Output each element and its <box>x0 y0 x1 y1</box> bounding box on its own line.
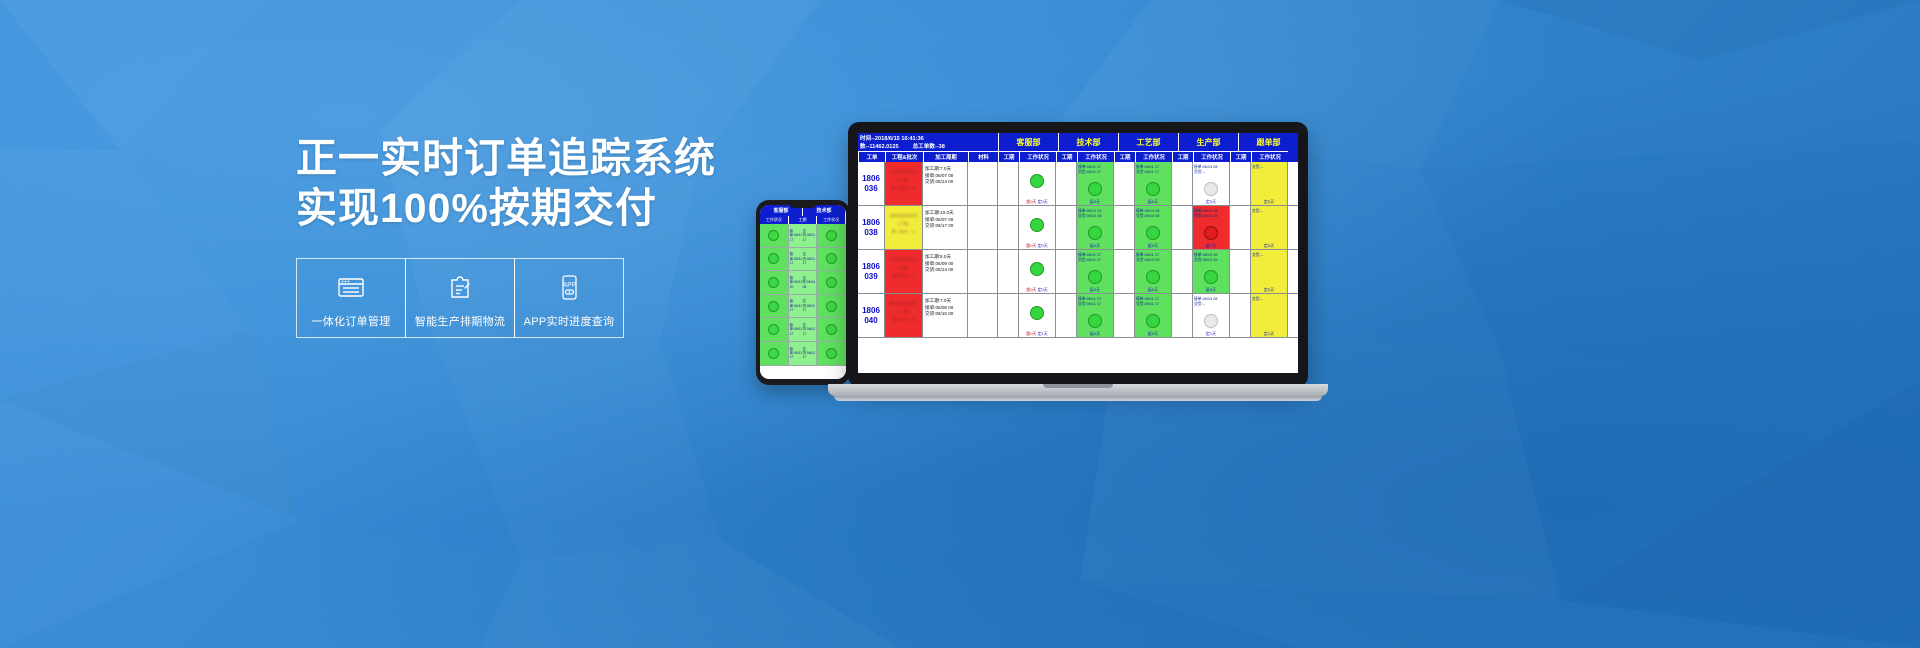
cycle-days: 加工期:5.0天 <box>925 254 965 261</box>
phone-note-deliver: 交货:06/11 17 <box>803 323 816 336</box>
mobile-app-icon: APP <box>552 272 586 306</box>
status-dot-green <box>1030 218 1044 232</box>
dashboard-meta: 时间--2018/6/15 16:41:36 数--11462.0125 总工单… <box>858 133 998 151</box>
cell-duration <box>1114 294 1135 337</box>
status-delay: 延0天 <box>1148 243 1158 248</box>
clipboard-icon <box>443 272 477 306</box>
phone-note-cell: 接单:06/11 17 交货:06/11 17 <box>789 342 817 366</box>
status-footer: 定0天 <box>1251 199 1287 205</box>
col-header-status-prod: 工作状况 <box>1193 151 1230 162</box>
dashboard-column-headers: 工单 工程&批次 加工周期 材料 工期 工作状况 工期 工作状况 工期 工作状况… <box>858 151 1298 162</box>
status-footer: 超0天 定1天 <box>1019 331 1055 337</box>
cell-status[interactable]: 交货:--定0天 <box>1251 162 1288 205</box>
phone-notch <box>789 203 817 208</box>
status-delay: 延0天 <box>1090 199 1100 204</box>
cell-duration <box>1172 162 1193 205</box>
status-notes: 交货:-- <box>1251 162 1287 173</box>
status-footer: 延0天 <box>1077 287 1113 293</box>
cell-project: 东莞某某某项目(三期)第四批次 - 07 <box>885 250 923 293</box>
dept-header-process: 工艺部 <box>1118 133 1178 151</box>
status-note-receive: 接单:06/12 09 <box>1194 253 1217 257</box>
cell-project: 广州某某某项目(一期)第二批次 - 05 <box>885 162 923 205</box>
status-delay: 定1天 <box>1206 331 1216 336</box>
status-footer: 超0天 定0天 <box>1019 243 1055 249</box>
phone-subcol-0: 工作状况 <box>760 216 789 224</box>
status-note-deliver: 交货:06/11 17 <box>1136 170 1159 174</box>
status-notes: 接单:06/11 17交货:06/11 17 <box>1077 250 1113 267</box>
status-footer: 延0天 <box>1135 287 1171 293</box>
cell-status[interactable]: 接单:06/11 17交货:06/11 17延0天 <box>1077 250 1114 293</box>
status-notes: 接单:06/14 08交货:06/14 08 <box>1135 206 1171 223</box>
col-header-duration-tech: 工期 <box>1056 151 1077 162</box>
cell-duration <box>1172 250 1193 293</box>
headline-line-2: 实现100%按期交付 <box>296 183 716 233</box>
phone-status-cell[interactable] <box>760 271 788 295</box>
deliver-date: 交货:06/17 00 <box>925 223 965 230</box>
cell-duration <box>998 250 1019 293</box>
col-header-status-merc: 工作状况 <box>1251 151 1288 162</box>
status-notes: 接单:06/11 17交货:06/11 17 <box>1135 162 1171 179</box>
cell-duration <box>1172 206 1193 249</box>
cell-status[interactable]: 接单:06/11 17交货:06/11 17延0天 <box>1077 294 1114 337</box>
status-fixed: 定0天 <box>1038 243 1048 248</box>
status-notes: 接单:06/12 20交货:06/14 08 <box>1077 206 1113 223</box>
laptop-screen: 时间--2018/6/15 16:41:36 数--11462.0125 总工单… <box>858 133 1298 373</box>
project-name: 广州某某某项目(一期)第二批次 - 05 <box>885 162 922 192</box>
total-orders-label: 总工单数--38 <box>913 142 945 150</box>
phone-note-receive: 接单:06/11 17 <box>790 323 803 336</box>
cell-material <box>968 162 998 205</box>
dashboard-header: 时间--2018/6/15 16:41:36 数--11462.0125 总工单… <box>858 133 1298 151</box>
status-note-receive: 交货:-- <box>1252 253 1263 257</box>
phone-note-receive: 接单:06/11 17 <box>790 252 803 265</box>
status-overdue: 超0天 <box>1026 199 1036 204</box>
status-footer: 超0天 定0天 <box>1019 287 1055 293</box>
count-label: 数--11462.0125 <box>860 142 899 150</box>
cell-project: 深圳某某某项目(二期)第一批次 - 11 <box>885 206 923 249</box>
status-dot-green <box>1146 314 1160 328</box>
phone-note-deliver: 交货:06/11 17 <box>803 299 816 312</box>
phone-note-cell: 接单:06/11 17 交货:06/11 17 <box>789 295 817 319</box>
status-dot-green <box>1088 314 1102 328</box>
order-number-bottom: 038 <box>864 228 877 238</box>
status-note-receive: 接单:06/14 08 <box>1194 209 1217 213</box>
cell-order-number: 1806038 <box>858 206 885 249</box>
status-note-receive: 接单:06/14 08 <box>1136 209 1159 213</box>
status-note-receive: 接单:06/11 17 <box>1136 297 1159 301</box>
phone-note-cell: 接单:06/11 17 交货:06/11 17 <box>789 248 817 272</box>
status-note-receive: 接单:06/11 17 <box>1136 253 1159 257</box>
laptop-lid: 时间--2018/6/15 16:41:36 数--11462.0125 总工单… <box>848 122 1308 387</box>
status-notes: 接单:06/11 17交货:06/11 17 <box>1077 294 1113 311</box>
status-note-deliver: 交货:06/12 09 <box>1136 258 1159 262</box>
laptop-mockup: 时间--2018/6/15 16:41:36 数--11462.0125 总工单… <box>828 122 1328 417</box>
laptop-foot <box>834 396 1322 401</box>
status-delay: 定0天 <box>1264 287 1274 292</box>
cell-order-number: 1806040 <box>858 294 885 337</box>
status-dot-green <box>1088 270 1102 284</box>
status-notes: 交货:-- <box>1251 250 1287 261</box>
status-notes: 接单:06/11 17交货:06/11 17 <box>1135 294 1171 311</box>
cell-status[interactable]: 接单:06/12 20交货:06/14 08延0天 <box>1077 206 1114 249</box>
cell-material <box>968 206 998 249</box>
cell-duration <box>998 206 1019 249</box>
phone-column-status-a <box>760 224 789 366</box>
status-dot-green <box>1204 270 1218 284</box>
col-header-cycle: 加工周期 <box>923 151 968 162</box>
status-note-deliver: 交货:06/14 16 <box>1194 214 1217 218</box>
status-dot-green <box>1030 174 1044 188</box>
col-header-status-proc: 工作状况 <box>1135 151 1172 162</box>
status-note-receive: 交货:-- <box>1252 209 1263 213</box>
status-delay: 定0天 <box>1264 199 1274 204</box>
status-delay: 延0天 <box>1206 287 1216 292</box>
status-notes: 交货:-- <box>1251 294 1287 305</box>
phone-note-receive: 接单:06/11 17 <box>790 347 803 360</box>
status-delay: 定0天 <box>1264 243 1274 248</box>
cell-status[interactable]: 接单:06/11 17交货:06/11 17延0天 <box>1077 162 1114 205</box>
status-dot-green <box>1146 226 1160 240</box>
status-delay: 超7天 <box>1206 243 1216 248</box>
status-dot-grey <box>1204 314 1218 328</box>
cell-status[interactable]: 接单:06/11 17交货:06/12 09延0天 <box>1135 250 1172 293</box>
cell-status[interactable]: 接单:06/14 08交货:06/14 08延0天 <box>1135 206 1172 249</box>
status-dot-green <box>1088 182 1102 196</box>
dept-header-production: 生产部 <box>1178 133 1238 151</box>
order-number-top: 1806 <box>862 306 880 316</box>
status-dot-green <box>768 348 779 359</box>
phone-status-cell[interactable] <box>760 342 788 366</box>
col-header-duration-merc: 工期 <box>1230 151 1251 162</box>
status-note-deliver: 交货:06/11 17 <box>1078 258 1101 262</box>
status-note-receive: 接单:06/11 17 <box>1136 165 1159 169</box>
table-row[interactable]: 1806036广州某某某项目(一期)第二批次 - 05加工期:7.0天接单:06… <box>858 162 1298 206</box>
order-number-top: 1806 <box>862 218 880 228</box>
status-footer: 延0天 <box>1135 199 1171 205</box>
status-footer: 定0天 <box>1251 287 1287 293</box>
cell-status[interactable]: 接单:06/14 08交货:06/14 16超7天 <box>1193 206 1230 249</box>
status-note-receive: 接单:06/13 08 <box>1194 165 1217 169</box>
status-note-deliver: 交货:06/11 17 <box>1078 170 1101 174</box>
table-row[interactable]: 1806039东莞某某某项目(三期)第四批次 - 07加工期:5.0天接单:06… <box>858 250 1298 294</box>
cell-cycle: 加工期:5.0天接单:06/09 00交货:06/14 00 <box>923 250 968 293</box>
status-dot-green <box>768 324 779 335</box>
deliver-date: 交货:06/14 00 <box>925 267 965 274</box>
status-footer: 延0天 <box>1135 331 1171 337</box>
status-footer: 超7天 <box>1193 243 1229 249</box>
phone-note-cell: 接单:06/11 17 交货:06/11 17 <box>789 318 817 342</box>
cell-status[interactable]: 接单:06/13 08交货:--定0天 <box>1193 162 1230 205</box>
cell-cycle: 加工期:7.0天接单:06/07 00交货:06/14 00 <box>923 162 968 205</box>
phone-note-cell: 接单:06/11 17 交货:06/11 17 <box>789 224 817 248</box>
dept-header-merchandising: 跟单部 <box>1238 133 1298 151</box>
table-row[interactable]: 1806040佛山某某某项目(一期)第三批次 - 02加工期:7.0天接单:06… <box>858 294 1298 338</box>
phone-subcol-1: 工期 <box>789 216 818 224</box>
project-name: 东莞某某某项目(三期)第四批次 - 07 <box>885 250 922 280</box>
cell-duration <box>1172 294 1193 337</box>
col-header-status-cs: 工作状况 <box>1019 151 1056 162</box>
current-time-label: 时间--2018/6/15 16:41:36 <box>860 134 996 142</box>
cell-status[interactable]: 接单:06/11 17交货:06/11 17延0天 <box>1135 162 1172 205</box>
phone-status-cell[interactable] <box>760 295 788 319</box>
phone-note-deliver: 交货:06/14 08 <box>803 276 816 289</box>
status-dot-red <box>1204 226 1218 240</box>
status-footer: 延0天 <box>1077 331 1113 337</box>
status-footer: 定1天 <box>1251 331 1287 337</box>
cell-status[interactable]: 接单:06/11 17交货:06/11 17延0天 <box>1135 294 1172 337</box>
promo-banner: 正一实时订单追踪系统 实现100%按期交付 一体化订单管理 <box>0 0 1920 648</box>
status-note-receive: 交货:-- <box>1252 165 1263 169</box>
cell-duration <box>1230 250 1251 293</box>
phone-note-deliver: 交货:06/11 17 <box>803 229 816 242</box>
cell-status[interactable]: 接单:06/12 09交货:06/12 09延0天 <box>1193 250 1230 293</box>
cell-material <box>968 294 998 337</box>
cell-project: 佛山某某某项目(一期)第三批次 - 02 <box>885 294 923 337</box>
status-delay: 延0天 <box>1148 199 1158 204</box>
cell-duration <box>1230 206 1251 249</box>
order-number-top: 1806 <box>862 174 880 184</box>
status-note-receive: 交货:-- <box>1252 297 1263 301</box>
col-header-duration-proc: 工期 <box>1114 151 1135 162</box>
order-number-bottom: 036 <box>864 184 877 194</box>
project-name: 深圳某某某项目(二期)第一批次 - 11 <box>885 206 922 236</box>
phone-note-cell: 接单:06/12 20 交货:06/14 08 <box>789 271 817 295</box>
status-fixed: 定1天 <box>1038 331 1048 336</box>
status-delay: 定0天 <box>1206 199 1216 204</box>
status-footer: 延0天 <box>1077 199 1113 205</box>
status-note-receive: 接单:06/11 17 <box>1078 253 1101 257</box>
status-note-deliver: 交货:-- <box>1194 302 1205 306</box>
status-overdue: 超0天 <box>1026 331 1036 336</box>
status-delay: 延0天 <box>1148 287 1158 292</box>
cell-duration <box>1230 294 1251 337</box>
status-fixed: 定0天 <box>1038 287 1048 292</box>
status-dot-green <box>768 253 779 264</box>
status-note-receive: 接单:06/11 17 <box>1078 297 1101 301</box>
status-delay: 延0天 <box>1090 287 1100 292</box>
cell-status[interactable]: 超0天 定0天 <box>1019 162 1056 205</box>
status-footer: 定0天 <box>1251 243 1287 249</box>
status-note-receive: 接单:06/12 20 <box>1078 209 1101 213</box>
phone-column-notes: 接单:06/11 17 交货:06/11 17 接单:06/11 17 交货:0… <box>789 224 818 366</box>
phone-note-receive: 接单:06/11 17 <box>790 229 803 242</box>
dept-header-technology: 技术部 <box>1058 133 1118 151</box>
status-footer: 定1天 <box>1193 331 1229 337</box>
deliver-date: 交货:06/15 00 <box>925 311 965 318</box>
status-footer: 超0天 定0天 <box>1019 199 1055 205</box>
status-footer: 定0天 <box>1193 199 1229 205</box>
status-delay: 定1天 <box>1264 331 1274 336</box>
status-footer: 延0天 <box>1077 243 1113 249</box>
status-fixed: 定0天 <box>1038 199 1048 204</box>
cell-duration <box>1056 206 1077 249</box>
status-delay: 延0天 <box>1090 243 1100 248</box>
cycle-days: 加工期:7.0天 <box>925 166 965 173</box>
col-header-order: 工单 <box>858 151 885 162</box>
cell-status[interactable]: 接单:06/13 08交货:--定1天 <box>1193 294 1230 337</box>
cell-duration <box>1230 162 1251 205</box>
status-note-deliver: 交货:06/14 08 <box>1136 214 1159 218</box>
feature-item-app-progress-query[interactable]: APP APP实时进度查询 <box>514 258 624 338</box>
app-icon-text: APP <box>562 282 576 289</box>
order-number-bottom: 040 <box>864 316 877 326</box>
phone-status-cell[interactable] <box>760 248 788 272</box>
phone-status-cell[interactable] <box>760 224 788 248</box>
status-overdue: 超0天 <box>1026 243 1036 248</box>
status-delay: 延0天 <box>1090 331 1100 336</box>
order-number-top: 1806 <box>862 262 880 272</box>
col-header-project: 工程&批次 <box>885 151 923 162</box>
cell-cycle: 加工期:10.0天接单:06/07 00交货:06/17 00 <box>923 206 968 249</box>
cell-status[interactable]: 超0天 定1天 <box>1019 294 1056 337</box>
cycle-days: 加工期:7.0天 <box>925 298 965 305</box>
status-note-deliver: 交货:06/11 17 <box>1136 302 1159 306</box>
feature-item-production-scheduling[interactable]: 智能生产排期物流 <box>405 258 515 338</box>
status-delay: 延0天 <box>1148 331 1158 336</box>
status-dot-green <box>768 301 779 312</box>
status-dot-green <box>1146 182 1160 196</box>
phone-note-deliver: 交货:06/11 17 <box>803 347 816 360</box>
feature-list: 一体化订单管理 智能生产排期物流 <box>296 258 716 338</box>
cell-duration <box>998 162 1019 205</box>
status-notes: 接单:06/14 08交货:06/14 16 <box>1193 206 1229 223</box>
order-number-bottom: 039 <box>864 272 877 282</box>
cell-duration <box>1114 162 1135 205</box>
status-overdue: 超0天 <box>1026 287 1036 292</box>
status-notes: 交货:-- <box>1251 206 1287 217</box>
status-note-deliver: 交货:06/11 17 <box>1078 302 1101 306</box>
cell-status[interactable]: 交货:--定0天 <box>1251 250 1288 293</box>
status-dot-grey <box>1204 182 1218 196</box>
phone-status-cell[interactable] <box>760 318 788 342</box>
cell-material <box>968 250 998 293</box>
status-note-deliver: 交货:06/12 09 <box>1194 258 1217 262</box>
cell-duration <box>1114 250 1135 293</box>
status-notes: 接单:06/11 17交货:06/11 17 <box>1077 162 1113 179</box>
status-note-receive: 接单:06/11 17 <box>1078 165 1101 169</box>
feature-item-order-management[interactable]: 一体化订单管理 <box>296 258 406 338</box>
phone-note-deliver: 交货:06/11 17 <box>803 252 816 265</box>
status-footer: 延0天 <box>1135 243 1171 249</box>
col-header-duration-prod: 工期 <box>1172 151 1193 162</box>
feature-label: APP实时进度查询 <box>524 313 615 329</box>
cell-status[interactable]: 超0天 定0天 <box>1019 250 1056 293</box>
status-dot-green <box>768 277 779 288</box>
status-dot-green <box>1088 226 1102 240</box>
col-header-status-tech: 工作状况 <box>1077 151 1114 162</box>
cell-cycle: 加工期:7.0天接单:06/08 00交货:06/15 00 <box>923 294 968 337</box>
col-header-material: 材料 <box>968 151 998 162</box>
cell-duration <box>1056 294 1077 337</box>
order-tracking-dashboard: 时间--2018/6/15 16:41:36 数--11462.0125 总工单… <box>858 133 1298 373</box>
feature-label: 一体化订单管理 <box>311 313 390 329</box>
project-name: 佛山某某某项目(一期)第三批次 - 02 <box>885 294 922 324</box>
status-dot-green <box>1030 306 1044 320</box>
status-note-deliver: 交货:-- <box>1194 170 1205 174</box>
status-note-deliver: 交货:06/14 08 <box>1078 214 1101 218</box>
phone-note-receive: 接单:06/11 17 <box>790 299 803 312</box>
laptop-base <box>828 384 1328 396</box>
status-dot-green <box>1146 270 1160 284</box>
page-title: 正一实时订单追踪系统 实现100%按期交付 <box>296 133 716 233</box>
status-notes: 接单:06/12 09交货:06/12 09 <box>1193 250 1229 267</box>
cell-duration <box>1056 250 1077 293</box>
phone-note-receive: 接单:06/12 20 <box>790 276 803 289</box>
col-header-duration-cs: 工期 <box>998 151 1019 162</box>
cell-status[interactable]: 超0天 定0天 <box>1019 206 1056 249</box>
status-dot-green <box>768 230 779 241</box>
cell-status[interactable]: 交货:--定0天 <box>1251 206 1288 249</box>
status-note-receive: 接单:06/13 08 <box>1194 297 1217 301</box>
status-dot-green <box>1030 262 1044 276</box>
cell-duration <box>1114 206 1135 249</box>
status-notes: 接单:06/11 17交货:06/12 09 <box>1135 250 1171 267</box>
dashboard-rows: 1806036广州某某某项目(一期)第二批次 - 05加工期:7.0天接单:06… <box>858 162 1298 338</box>
cell-status[interactable]: 交货:--定1天 <box>1251 294 1288 337</box>
status-notes: 接单:06/13 08交货:-- <box>1193 162 1229 179</box>
headline-line-1: 正一实时订单追踪系统 <box>296 135 716 181</box>
table-row[interactable]: 1806038深圳某某某项目(二期)第一批次 - 11加工期:10.0天接单:0… <box>858 206 1298 250</box>
cell-order-number: 1806039 <box>858 250 885 293</box>
cycle-days: 加工期:10.0天 <box>925 210 965 217</box>
status-footer: 延0天 <box>1193 287 1229 293</box>
deliver-date: 交货:06/14 00 <box>925 179 965 186</box>
feature-label: 智能生产排期物流 <box>415 313 505 329</box>
dept-header-customer-service: 客服部 <box>998 133 1058 151</box>
cell-order-number: 1806036 <box>858 162 885 205</box>
status-notes: 接单:06/13 08交货:-- <box>1193 294 1229 311</box>
browser-window-icon <box>334 272 368 306</box>
headline-block: 正一实时订单追踪系统 实现100%按期交付 一体化订单管理 <box>296 133 716 338</box>
cell-duration <box>998 294 1019 337</box>
cell-duration <box>1056 162 1077 205</box>
